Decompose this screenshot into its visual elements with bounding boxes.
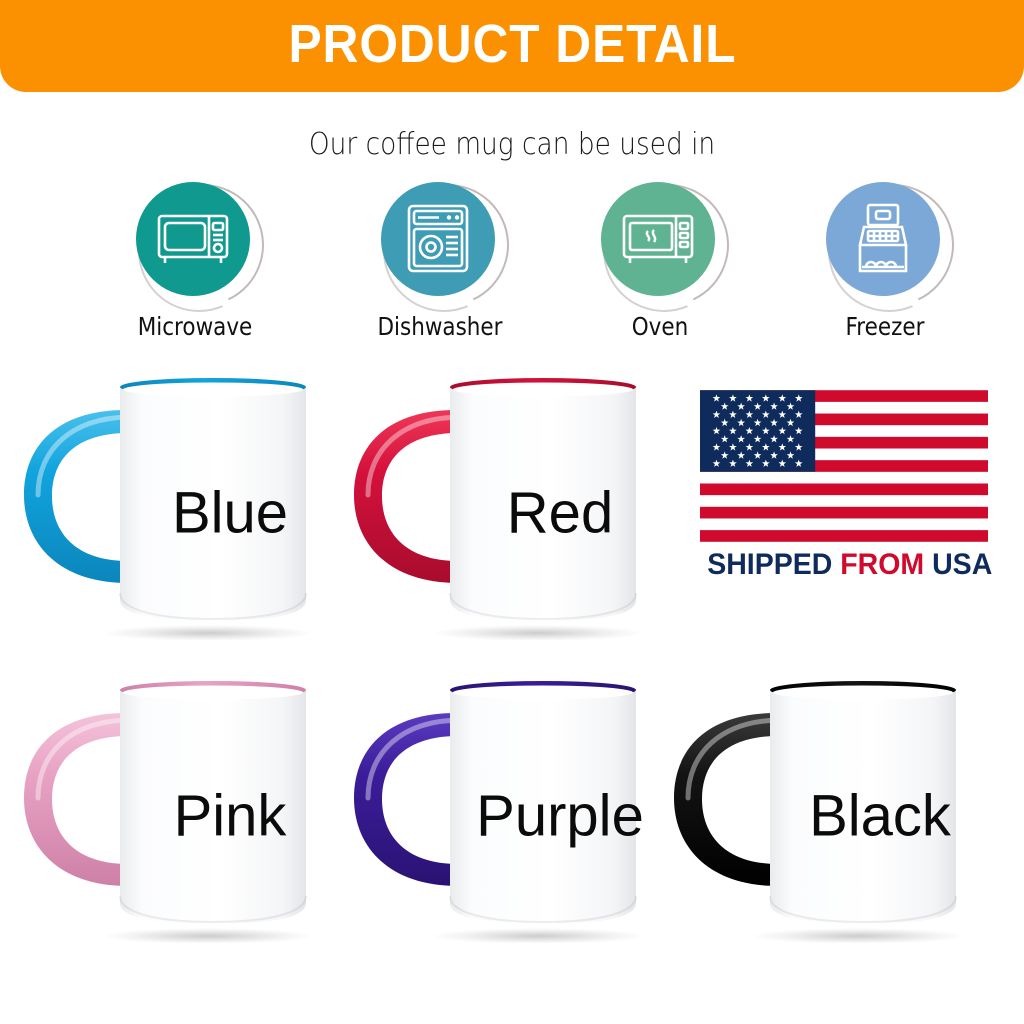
mug-inner-rim xyxy=(453,686,633,700)
mug-red: Red xyxy=(338,365,678,640)
mug-inner-rim xyxy=(123,383,303,397)
feature-dishwasher: Dishwasher xyxy=(350,182,530,341)
dishwasher-icon xyxy=(407,204,469,274)
mug-illustration-red: Red xyxy=(338,365,678,640)
microwave-circle xyxy=(136,182,250,296)
page-title: PRODUCT DETAIL xyxy=(288,17,736,75)
mug-blue: Blue xyxy=(8,365,348,640)
feature-label-oven: Oven xyxy=(583,312,738,341)
mug-pink: Pink xyxy=(8,668,348,943)
mug-shadow xyxy=(752,928,964,943)
mug-shadow xyxy=(432,928,644,943)
mug-inner-rim xyxy=(773,686,953,700)
usage-subtitle: Our coffee mug can be used in xyxy=(61,127,962,162)
feature-label-microwave: Microwave xyxy=(118,312,273,341)
shipped-from-usa-badge: SHIPPED FROM USA xyxy=(700,390,988,582)
dishwasher-circle xyxy=(381,182,495,296)
mug-inner-rim xyxy=(453,383,633,397)
oven-circle xyxy=(601,182,715,296)
freezer-icon xyxy=(854,203,912,275)
freezer-circle xyxy=(826,182,940,296)
usa-flag-icon xyxy=(700,390,988,542)
feature-icon-row: Microwave xyxy=(0,182,1024,342)
feature-freezer: Freezer xyxy=(795,182,975,341)
mug-illustration-purple: Purple xyxy=(338,668,678,943)
feature-oven: Oven xyxy=(570,182,750,341)
mug-color-label: Black xyxy=(809,783,952,848)
feature-microwave: Microwave xyxy=(105,182,285,341)
usa-word: USA xyxy=(932,548,992,581)
dishwasher-circle-wrap xyxy=(381,182,499,300)
mug-color-label: Purple xyxy=(476,783,644,848)
shipped-word: SHIPPED xyxy=(707,548,832,581)
from-word: FROM xyxy=(840,548,924,581)
freezer-circle-wrap xyxy=(826,182,944,300)
microwave-circle-wrap xyxy=(136,182,254,300)
shipped-from-usa-text: SHIPPED FROM USA xyxy=(707,548,981,582)
oven-circle-wrap xyxy=(601,182,719,300)
mug-inner-rim xyxy=(123,686,303,700)
mug-shadow xyxy=(432,625,644,640)
mug-shadow xyxy=(102,928,314,943)
mug-illustration-black: Black xyxy=(658,668,998,943)
mug-black: Black xyxy=(658,668,998,943)
oven-icon xyxy=(622,211,694,267)
product-detail-banner: PRODUCT DETAIL xyxy=(0,0,1024,92)
mug-shadow xyxy=(102,625,314,640)
microwave-icon xyxy=(157,211,229,267)
mug-illustration-blue: Blue xyxy=(8,365,348,640)
mug-color-label: Blue xyxy=(172,480,288,545)
mug-color-label: Pink xyxy=(174,783,288,848)
mug-color-label: Red xyxy=(507,480,613,545)
mug-purple: Purple xyxy=(338,668,678,943)
mug-illustration-pink: Pink xyxy=(8,668,348,943)
feature-label-dishwasher: Dishwasher xyxy=(363,312,518,341)
feature-label-freezer: Freezer xyxy=(808,312,963,341)
